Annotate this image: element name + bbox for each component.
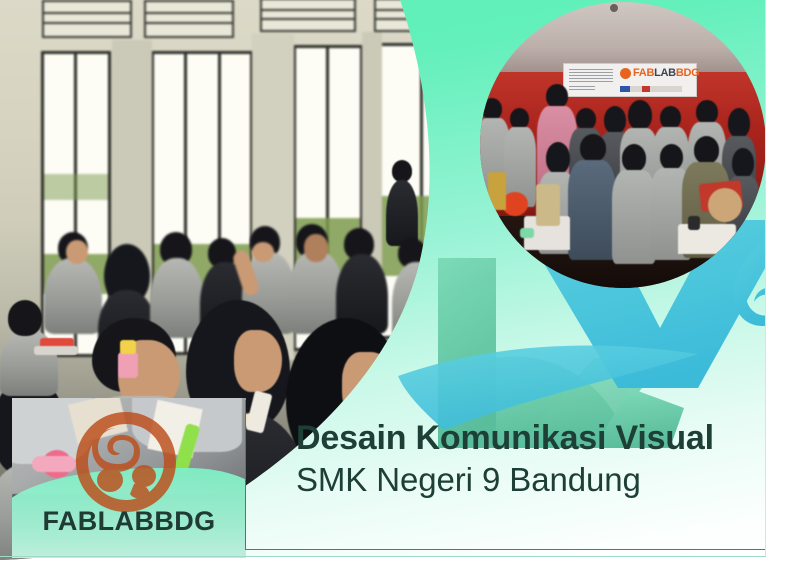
frame-vertical-divider <box>245 400 246 550</box>
right-white-margin <box>766 0 789 565</box>
fablab-group-photo: FABLABBDG <box>480 2 766 288</box>
poster-canvas: DKV <box>0 0 789 565</box>
fablab-logo-text: FABLABBDG <box>12 506 246 537</box>
canvas-bottom-edge <box>0 556 766 557</box>
fablab-globe-icon <box>74 410 178 514</box>
poster-title-block: Desain Komunikasi Visual SMK Negeri 9 Ba… <box>296 418 714 500</box>
title-line-1: Desain Komunikasi Visual <box>296 418 714 458</box>
fablab-logo-box: FABLABBDG <box>12 398 246 558</box>
title-line-2: SMK Negeri 9 Bandung <box>296 460 714 500</box>
frame-bottom-line <box>246 549 766 550</box>
